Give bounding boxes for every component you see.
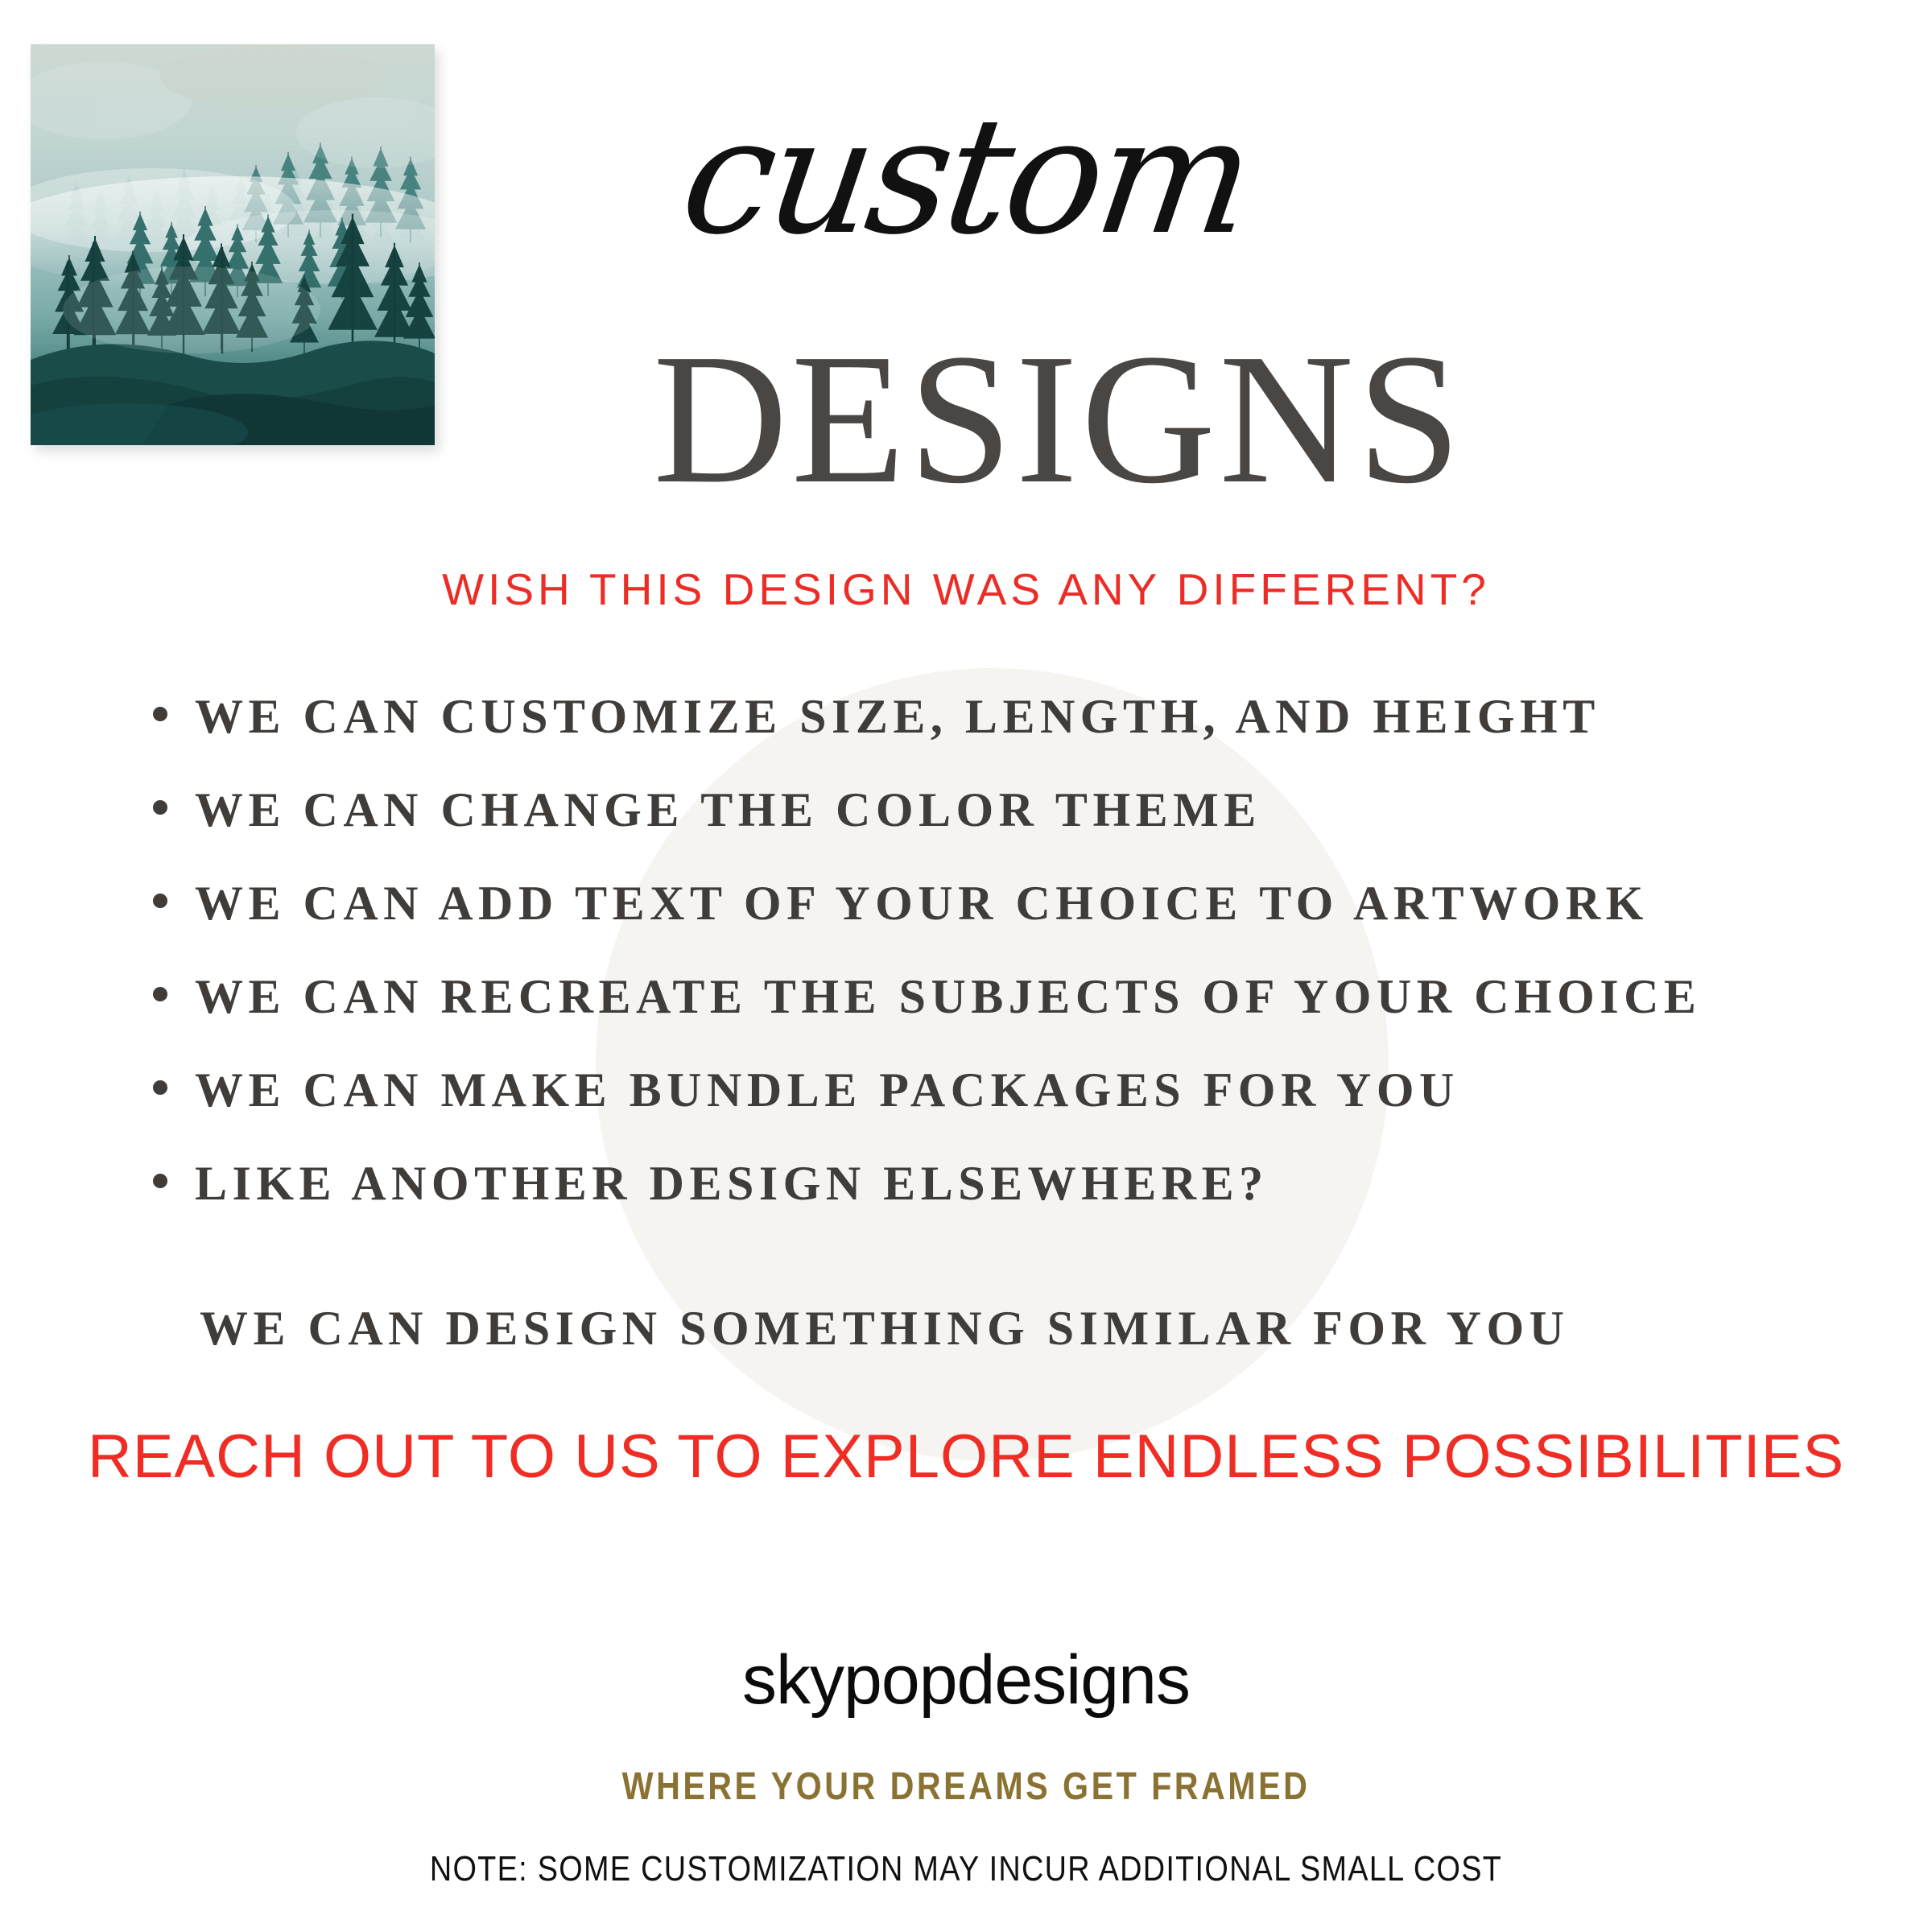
brand-tagline: WHERE YOUR DREAMS GET FRAMED	[135, 1768, 1797, 1806]
benefit-continuation-line: WE CAN DESIGN SOMETHING SIMILAR FOR YOU	[200, 1304, 1569, 1352]
page-title-main: DESIGNS	[0, 326, 1932, 513]
bullet-icon	[153, 1174, 167, 1188]
list-item: WE CAN CHANGE THE COLOR THEME	[153, 786, 1868, 879]
benefit-label: WE CAN CHANGE THE COLOR THEME	[195, 786, 1261, 834]
bullet-icon	[153, 800, 167, 815]
page-subtitle: WISH THIS DESIGN WAS ANY DIFFERENT?	[0, 568, 1932, 612]
bullet-icon	[153, 707, 167, 721]
benefit-label: WE CAN MAKE BUNDLE PACKAGES FOR YOU	[195, 1066, 1459, 1114]
benefits-list: WE CAN CUSTOMIZE SIZE, LENGTH, AND HEIGH…	[153, 692, 1868, 1253]
bullet-icon	[153, 1080, 167, 1095]
benefit-label: LIKE ANOTHER DESIGN ELSEWHERE?	[195, 1159, 1269, 1207]
benefit-label: WE CAN RECREATE THE SUBJECTS OF YOUR CHO…	[195, 972, 1701, 1021]
bullet-icon	[153, 894, 167, 908]
list-item: WE CAN RECREATE THE SUBJECTS OF YOUR CHO…	[153, 972, 1868, 1066]
brand-name: skypopdesigns	[0, 1645, 1932, 1715]
list-item: LIKE ANOTHER DESIGN ELSEWHERE?	[153, 1159, 1868, 1253]
list-item: WE CAN CUSTOMIZE SIZE, LENGTH, AND HEIGH…	[153, 692, 1868, 786]
call-to-action-text: REACH OUT TO US TO EXPLORE ENDLESS POSSI…	[0, 1426, 1932, 1488]
list-item: WE CAN ADD TEXT OF YOUR CHOICE TO ARTWOR…	[153, 879, 1868, 972]
list-item: WE CAN MAKE BUNDLE PACKAGES FOR YOU	[153, 1066, 1868, 1159]
bullet-icon	[153, 987, 167, 1001]
page-title-script: custom	[0, 97, 1932, 258]
benefit-label: WE CAN ADD TEXT OF YOUR CHOICE TO ARTWOR…	[195, 879, 1649, 927]
benefit-label: WE CAN CUSTOMIZE SIZE, LENGTH, AND HEIGH…	[195, 692, 1600, 741]
footnote-note: NOTE: SOME CUSTOMIZATION MAY INCUR ADDIT…	[135, 1851, 1797, 1887]
